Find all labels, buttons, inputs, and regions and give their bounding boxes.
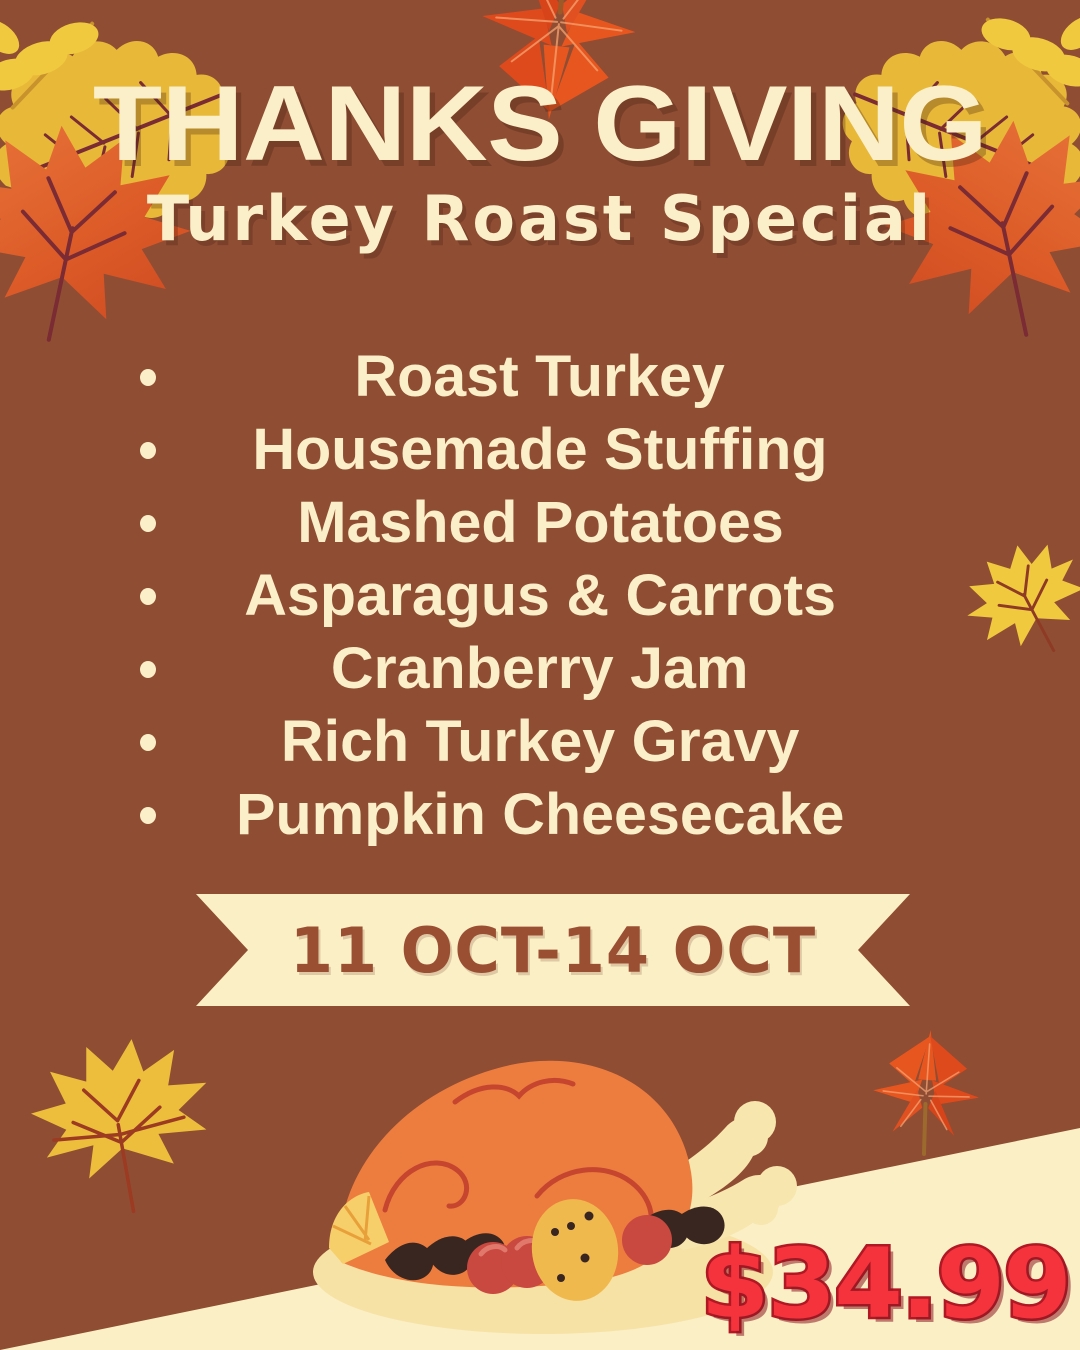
list-item: Roast Turkey [0, 340, 1080, 413]
list-item: Cranberry Jam [0, 632, 1080, 705]
japanese-maple-leaf-icon [862, 1022, 992, 1157]
date-range-text: 11 OCT-14 OCT [196, 894, 910, 1006]
bullet-icon [140, 515, 156, 532]
menu-item-label: Cranberry Jam [331, 640, 749, 698]
menu-item-label: Asparagus & Carrots [244, 567, 836, 625]
list-item: Mashed Potatoes [0, 486, 1080, 559]
menu-item-label: Rich Turkey Gravy [281, 713, 799, 771]
thanksgiving-poster: THANKS GIVING Turkey Roast Special Roast… [0, 0, 1080, 1350]
price-badge: $34.99 [701, 1236, 1070, 1332]
bullet-icon [140, 807, 156, 824]
list-item: Rich Turkey Gravy [0, 705, 1080, 778]
page-subtitle: Turkey Roast Special [0, 174, 1080, 250]
bullet-icon [140, 734, 156, 751]
menu-item-label: Pumpkin Cheesecake [236, 786, 844, 844]
menu-list: Roast Turkey Housemade Stuffing Mashed P… [0, 340, 1080, 851]
bullet-icon [140, 442, 156, 459]
date-ribbon: 11 OCT-14 OCT [196, 894, 910, 1006]
bullet-icon [140, 661, 156, 678]
list-item: Asparagus & Carrots [0, 559, 1080, 632]
bullet-icon [140, 369, 156, 386]
menu-item-label: Roast Turkey [355, 348, 725, 406]
menu-item-label: Housemade Stuffing [252, 421, 827, 479]
menu-item-label: Mashed Potatoes [297, 494, 784, 552]
list-item: Pumpkin Cheesecake [0, 778, 1080, 851]
poster-header: THANKS GIVING Turkey Roast Special [0, 0, 1080, 250]
maple-leaf-icon [22, 1028, 222, 1218]
list-item: Housemade Stuffing [0, 413, 1080, 486]
page-title: THANKS GIVING [0, 0, 1080, 174]
bullet-icon [140, 588, 156, 605]
